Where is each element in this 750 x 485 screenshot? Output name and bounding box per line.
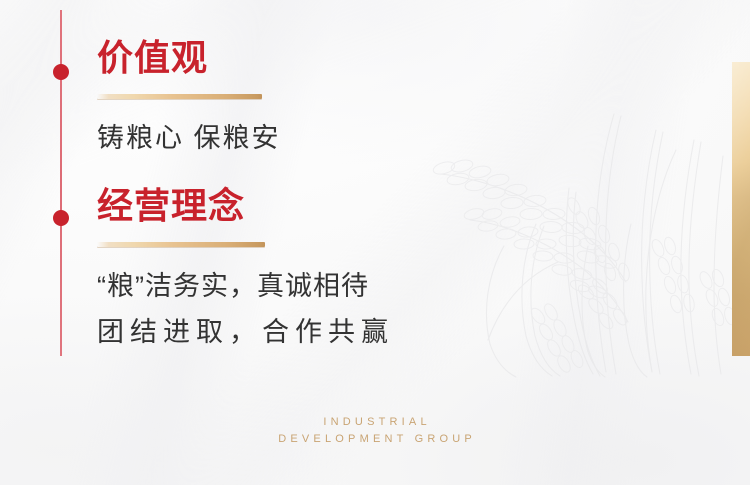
section-values-line-1: 铸粮心 保粮安 — [97, 115, 281, 161]
bullet-dot-icon-values — [53, 64, 69, 80]
section-values: 价值观 铸粮心 保粮安 — [97, 36, 281, 161]
footer-wordmark-line-2: DEVELOPMENT GROUP — [0, 431, 750, 448]
gold-divider-philosophy — [97, 242, 265, 247]
gold-divider-values — [97, 94, 262, 99]
section-philosophy-line-2: 团结进取，合作共赢 — [97, 309, 394, 355]
section-philosophy: 经营理念 “粮”洁务实，真诚相待 团结进取，合作共赢 — [97, 184, 394, 355]
footer-wordmark: INDUSTRIAL DEVELOPMENT GROUP — [0, 414, 750, 448]
slide-canvas: 价值观 铸粮心 保粮安 经营理念 “粮”洁务实，真诚相待 团结进取，合作共赢 I… — [0, 0, 750, 485]
gold-accent-bar — [732, 62, 750, 356]
rice-plant-illustration — [418, 96, 748, 396]
section-philosophy-line-1: “粮”洁务实，真诚相待 — [97, 263, 394, 309]
bullet-dot-icon-philosophy — [53, 210, 69, 226]
left-accent-line — [60, 10, 62, 356]
section-philosophy-heading: 经营理念 — [97, 184, 394, 228]
section-values-heading: 价值观 — [97, 36, 281, 80]
footer-wordmark-line-1: INDUSTRIAL — [0, 414, 750, 431]
